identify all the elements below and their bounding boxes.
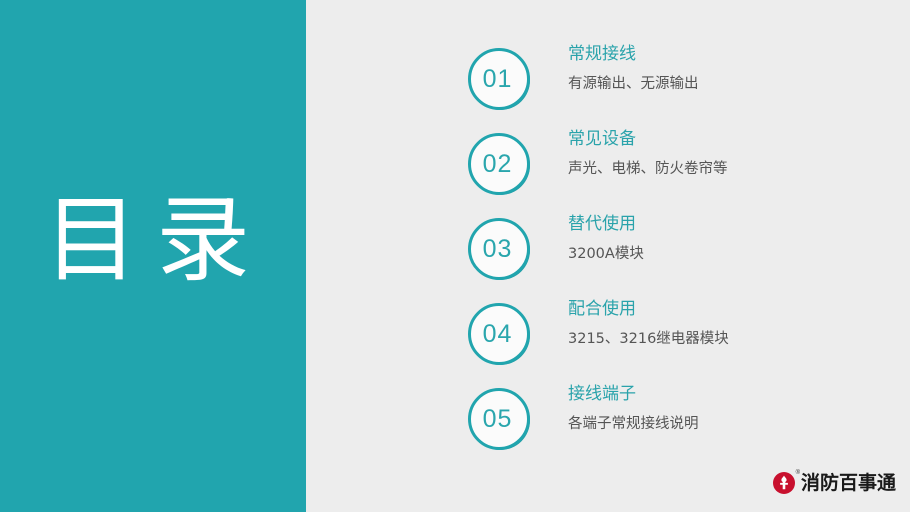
list-item[interactable]: 04 配合使用 3215、3216继电器模块 bbox=[468, 297, 908, 382]
list-item[interactable]: 02 常见设备 声光、电梯、防火卷帘等 bbox=[468, 127, 908, 212]
slide-root: 目录 01 常规接线 有源输出、无源输出 bbox=[0, 0, 910, 512]
badge-number: 03 bbox=[468, 218, 530, 280]
badge-number: 05 bbox=[468, 388, 530, 450]
list-item-subtitle: 有源输出、无源输出 bbox=[568, 74, 908, 94]
list-item-subtitle: 各端子常规接线说明 bbox=[568, 414, 908, 434]
list-item-title: 配合使用 bbox=[568, 297, 908, 321]
list-item-title: 接线端子 bbox=[568, 382, 908, 406]
list-item-subtitle: 声光、电梯、防火卷帘等 bbox=[568, 159, 908, 179]
list-item-text: 替代使用 3200A模块 bbox=[568, 212, 908, 264]
badge-number: 04 bbox=[468, 303, 530, 365]
page-title: 目录 bbox=[44, 186, 268, 296]
brand-logo: ® 消防百事通 bbox=[772, 468, 896, 498]
list-item-title: 替代使用 bbox=[568, 212, 908, 236]
number-badge: 02 bbox=[468, 133, 530, 195]
table-of-contents-list: 01 常规接线 有源输出、无源输出 02 常见设备 声光、电梯、防火卷帘等 bbox=[468, 42, 908, 467]
brand-name: 消防百事通 bbox=[801, 471, 896, 495]
list-item-text: 接线端子 各端子常规接线说明 bbox=[568, 382, 908, 434]
list-item-title: 常规接线 bbox=[568, 42, 908, 66]
number-badge: 05 bbox=[468, 388, 530, 450]
left-accent-panel: 目录 bbox=[0, 0, 306, 512]
badge-number: 01 bbox=[468, 48, 530, 110]
list-item[interactable]: 03 替代使用 3200A模块 bbox=[468, 212, 908, 297]
fire-shield-logo-icon: ® bbox=[772, 471, 796, 495]
list-item-text: 常见设备 声光、电梯、防火卷帘等 bbox=[568, 127, 908, 179]
registered-trademark-icon: ® bbox=[796, 470, 800, 476]
badge-number: 02 bbox=[468, 133, 530, 195]
list-item-text: 常规接线 有源输出、无源输出 bbox=[568, 42, 908, 94]
number-badge: 01 bbox=[468, 48, 530, 110]
number-badge: 04 bbox=[468, 303, 530, 365]
content-area: 01 常规接线 有源输出、无源输出 02 常见设备 声光、电梯、防火卷帘等 bbox=[306, 0, 910, 512]
list-item[interactable]: 01 常规接线 有源输出、无源输出 bbox=[468, 42, 908, 127]
list-item-text: 配合使用 3215、3216继电器模块 bbox=[568, 297, 908, 349]
list-item[interactable]: 05 接线端子 各端子常规接线说明 bbox=[468, 382, 908, 467]
list-item-subtitle: 3200A模块 bbox=[568, 244, 908, 264]
list-item-title: 常见设备 bbox=[568, 127, 908, 151]
number-badge: 03 bbox=[468, 218, 530, 280]
list-item-subtitle: 3215、3216继电器模块 bbox=[568, 329, 908, 349]
